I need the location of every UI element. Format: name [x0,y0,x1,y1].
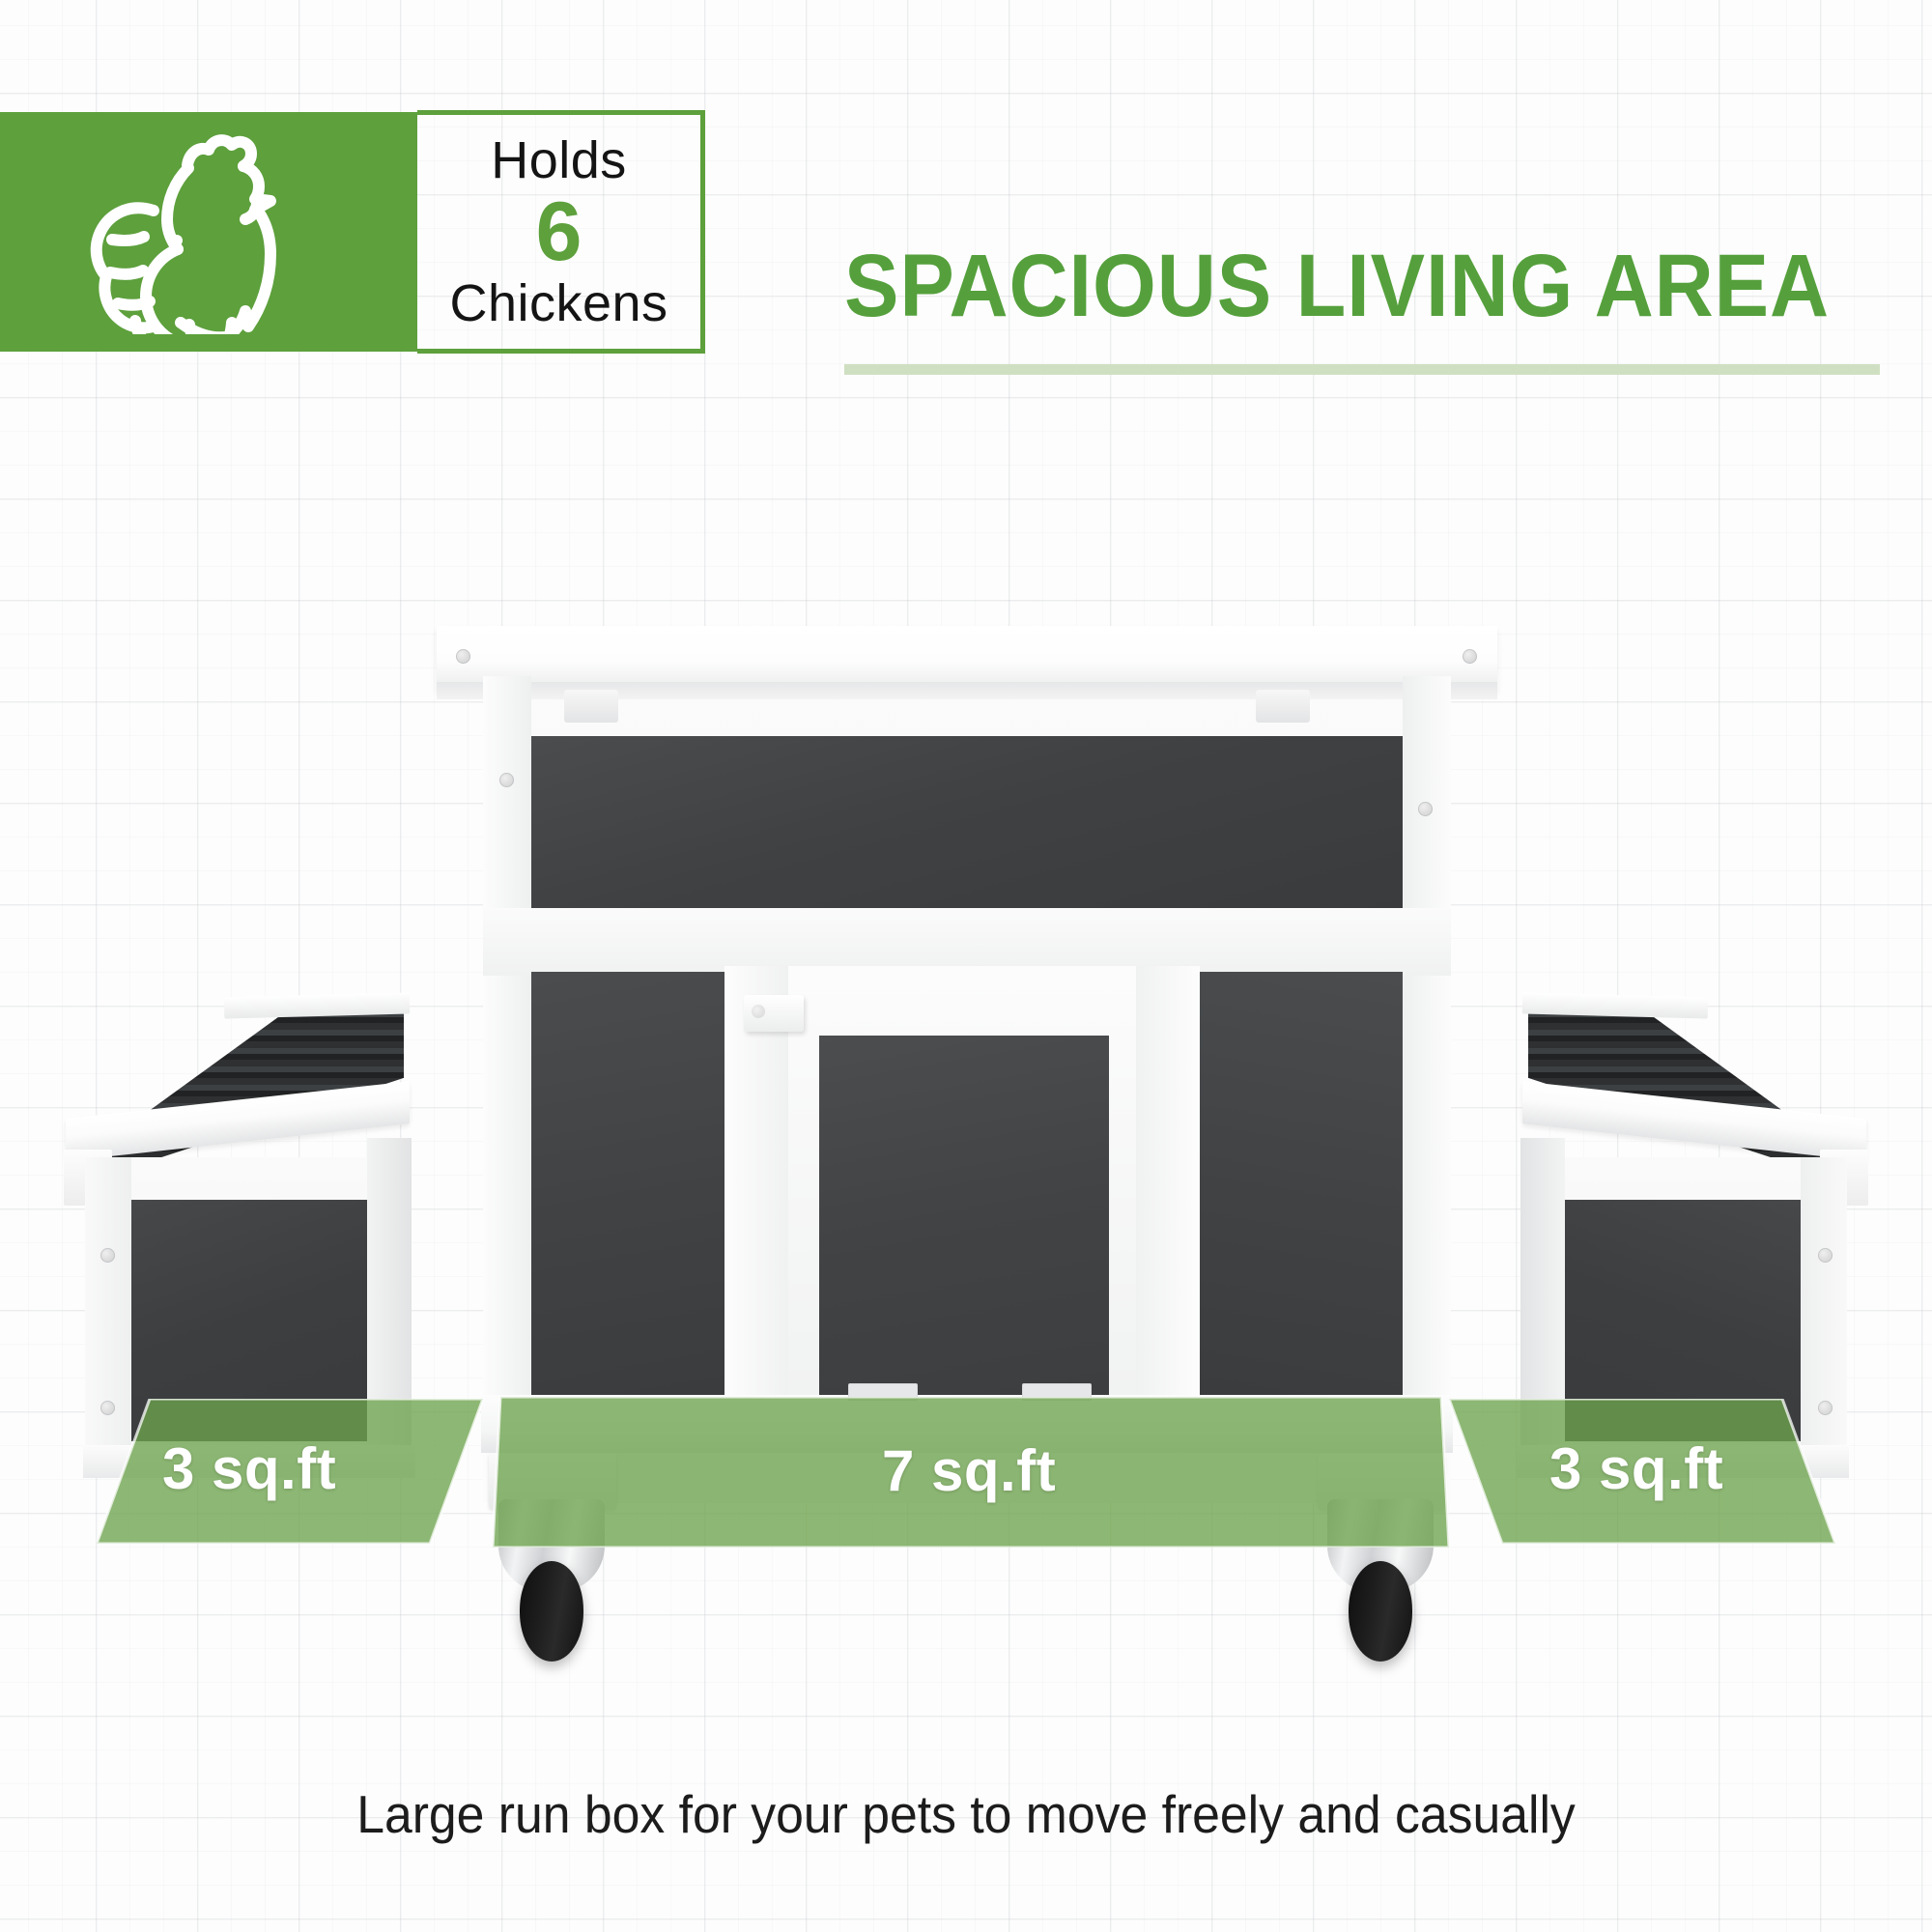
coop-upper-dark-panel [529,736,1406,912]
left-area-label: 3 sq.ft [162,1435,336,1502]
coop-roof-hinge-right [1256,690,1310,723]
left-box-screw-top [100,1248,115,1263]
coop-lower-right-panel [1198,972,1403,1397]
product-illustration: 3 sq.ft 7 sq.ft 3 sq.ft [0,0,1932,1932]
coop-left-screw [499,773,514,787]
coop-roof-slab [437,626,1497,690]
door-latch-screw [752,1005,765,1018]
coop-door-panel [819,1036,1109,1397]
right-area-label: 3 sq.ft [1549,1435,1723,1502]
coop-right-stile [1403,676,1451,1503]
right-caster-wheel [1349,1561,1412,1662]
coop-roof-hinge-left [564,690,618,723]
coop-lower-left-panel [531,972,724,1397]
infographic-canvas: Holds 6 Chickens SPACIOUS LIVING AREA [0,0,1932,1932]
coop-roof-screw-right [1463,649,1477,664]
right-box-screw-top [1818,1248,1833,1263]
left-caster-wheel [520,1561,583,1662]
coop-door-right-post [1136,966,1200,1397]
coop-left-stile [483,676,531,1503]
footer-caption: Large run box for your pets to move free… [58,1783,1874,1845]
center-area-label: 7 sq.ft [882,1437,1056,1504]
coop-right-screw [1418,802,1433,816]
coop-roof-screw-left [456,649,470,664]
